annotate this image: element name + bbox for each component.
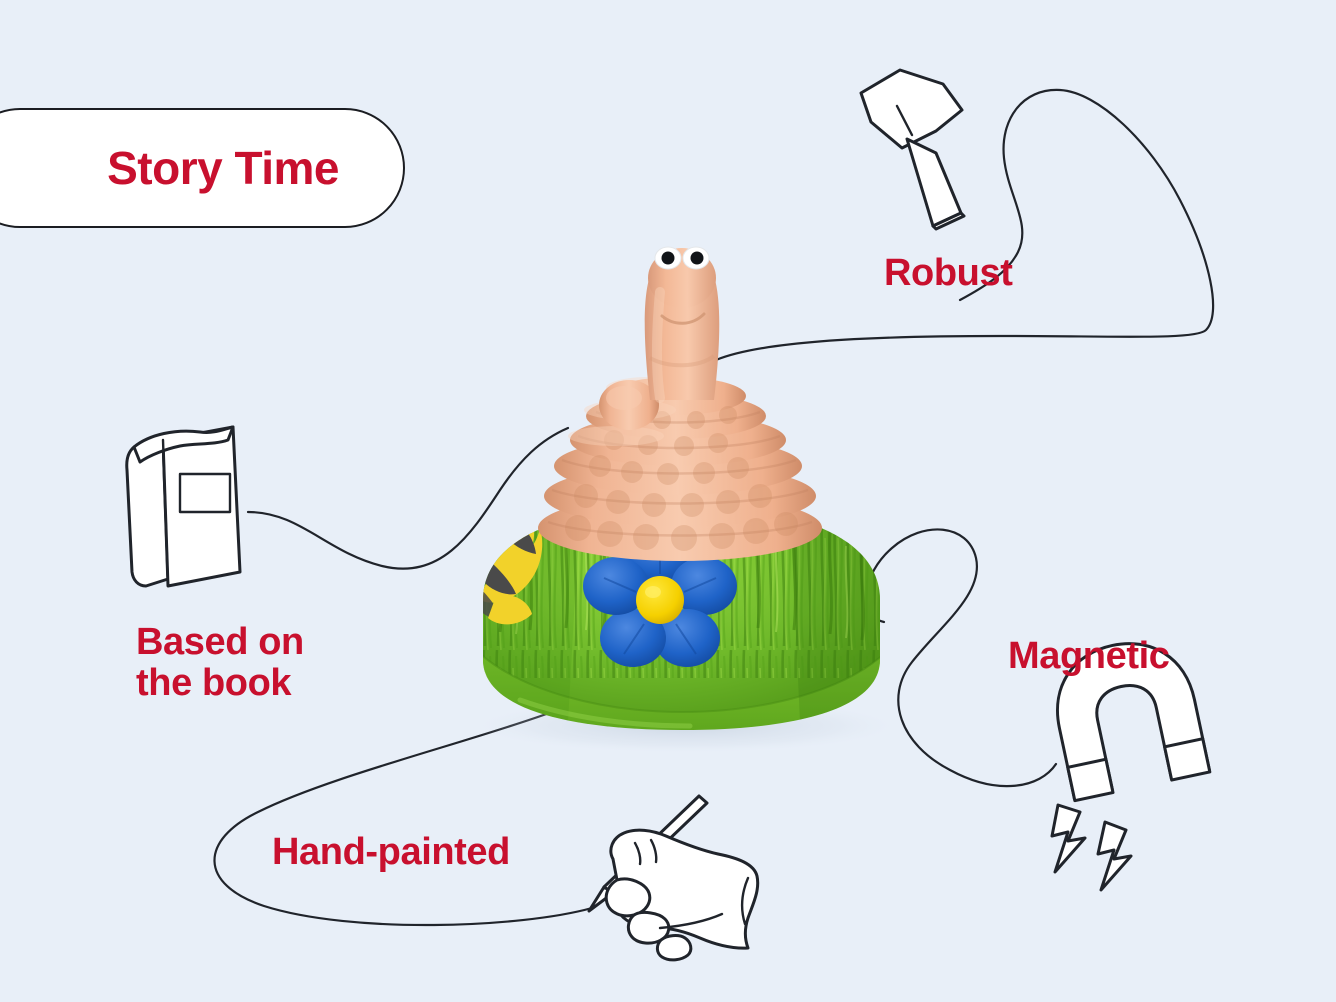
thread-robust — [716, 90, 1213, 360]
worm-eyes — [655, 247, 709, 269]
book-label — [180, 474, 230, 512]
pupil-right — [691, 252, 704, 265]
hammer-icon — [861, 70, 964, 229]
feature-label-based-on-the-book: Based on the book — [136, 622, 304, 704]
lightning-bolt-icon-left — [1052, 805, 1085, 872]
promo-canvas: Story Time Robust Based on the book Magn… — [0, 0, 1336, 1002]
thread-hand-painted — [214, 712, 592, 925]
book-icon — [127, 427, 240, 586]
bee-decoration — [472, 505, 542, 624]
grass-base — [478, 506, 886, 740]
flower-decoration — [583, 524, 737, 667]
grass-texture — [478, 506, 886, 740]
worm-coil — [538, 377, 822, 561]
worm-head — [645, 248, 720, 400]
hand-with-pencil-icon — [589, 796, 758, 960]
story-time-badge-label: Story Time — [107, 141, 339, 195]
thread-based-on-book — [248, 428, 568, 569]
feature-label-hand-painted: Hand-painted — [272, 832, 510, 873]
feature-label-magnetic: Magnetic — [1008, 636, 1170, 677]
feature-label-robust: Robust — [884, 253, 1012, 294]
pupil-left — [662, 252, 675, 265]
worm-tail-tip — [599, 380, 659, 430]
lightning-bolt-icon-right — [1098, 822, 1131, 890]
story-time-badge: Story Time — [0, 108, 405, 228]
figurine-shadow — [468, 698, 904, 754]
